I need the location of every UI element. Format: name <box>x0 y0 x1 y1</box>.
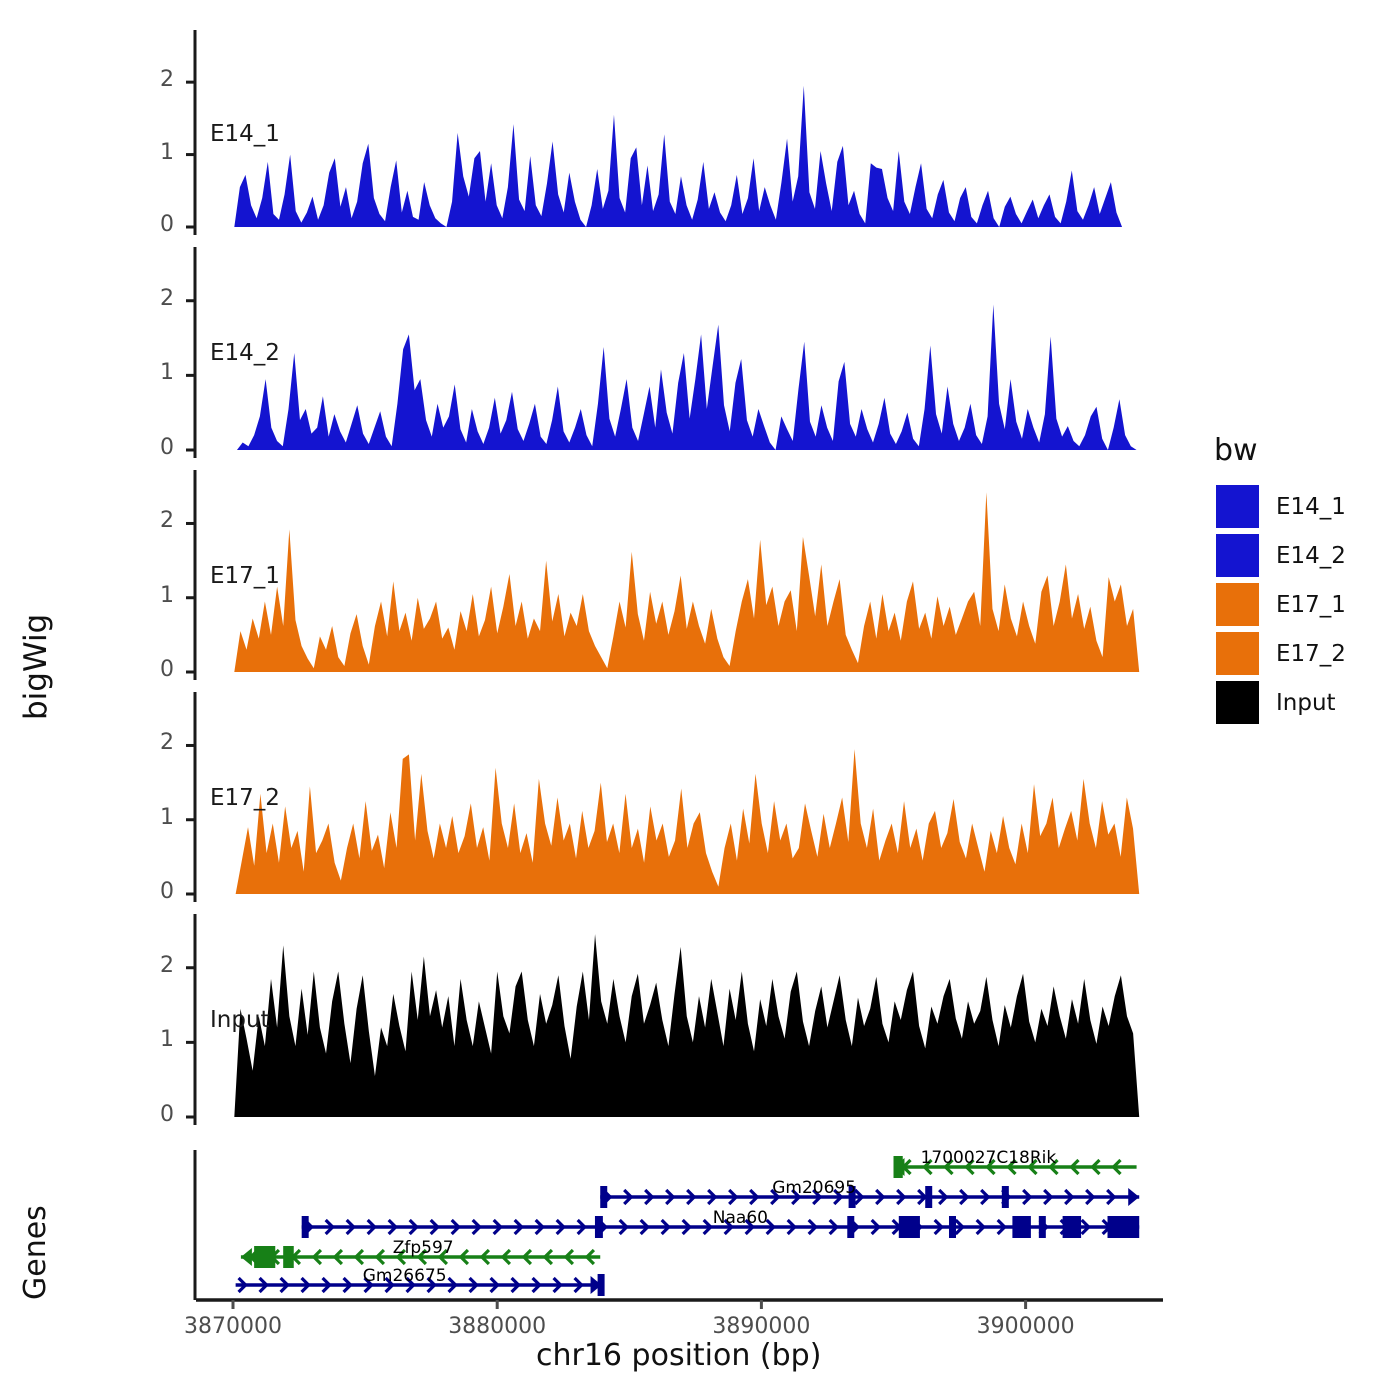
exon-block <box>925 1186 932 1208</box>
exon-block <box>1012 1216 1030 1238</box>
exon-block <box>1039 1216 1046 1238</box>
x-tick-label: 3870000 <box>184 1314 282 1339</box>
gene-label-Zfp597: Zfp597 <box>393 1238 454 1258</box>
gene-end-arrowhead-icon <box>241 1248 252 1266</box>
y-tick-label: 1 <box>144 140 174 165</box>
bigwig-track-e17_1 <box>234 492 1139 672</box>
y-tick-label: 0 <box>144 435 174 460</box>
exon-block <box>254 1246 275 1268</box>
exon-block <box>283 1246 294 1268</box>
gene-label-1700027C18Rik: 1700027C18Rik <box>921 1148 1057 1168</box>
bigwig-track-e14_1 <box>234 86 1122 227</box>
y-tick-label: 2 <box>144 953 174 978</box>
exon-block <box>598 1274 605 1296</box>
exon-block <box>1002 1186 1009 1208</box>
bigwig-track-e14_2 <box>237 304 1137 450</box>
y-tick-label: 1 <box>144 805 174 830</box>
x-tick-label: 3900000 <box>977 1314 1075 1339</box>
y-tick-label: 0 <box>144 212 174 237</box>
panel-label-e14_1: E14_1 <box>210 121 280 147</box>
exon-block <box>1108 1216 1140 1238</box>
y-tick-label: 2 <box>144 67 174 92</box>
gene-label-Gm26675: Gm26675 <box>363 1266 447 1286</box>
gene-label-Naa60: Naa60 <box>713 1208 768 1228</box>
gene-end-arrowhead-icon <box>1128 1188 1139 1206</box>
y-tick-label: 1 <box>144 1027 174 1052</box>
gene-label-Gm20695: Gm20695 <box>772 1178 856 1198</box>
y-tick-label: 0 <box>144 657 174 682</box>
exon-block <box>847 1216 854 1238</box>
panel-label-input: Input <box>210 1007 270 1033</box>
exon-block <box>595 1216 603 1238</box>
exon-block <box>302 1216 309 1238</box>
panel-label-e17_1: E17_1 <box>210 563 280 589</box>
y-tick-label: 1 <box>144 583 174 608</box>
panel-label-e17_2: E17_2 <box>210 785 280 811</box>
bigwig-track-e17_2 <box>236 749 1140 894</box>
exon-block <box>600 1186 607 1208</box>
y-tick-label: 2 <box>144 730 174 755</box>
y-tick-label: 2 <box>144 508 174 533</box>
exon-block <box>1063 1216 1081 1238</box>
x-tick-label: 3890000 <box>712 1314 810 1339</box>
exon-block <box>894 1156 903 1178</box>
x-tick-label: 3880000 <box>448 1314 546 1339</box>
y-tick-label: 1 <box>144 360 174 385</box>
bigwig-track-input <box>234 934 1139 1117</box>
y-tick-label: 2 <box>144 286 174 311</box>
gene-Gm20695[interactable] <box>600 1186 1139 1208</box>
exon-block <box>949 1216 956 1238</box>
exon-block <box>899 1216 920 1238</box>
genome-browser-plot <box>0 0 1400 1400</box>
y-tick-label: 0 <box>144 879 174 904</box>
y-tick-label: 0 <box>144 1102 174 1127</box>
panel-label-e14_2: E14_2 <box>210 340 280 366</box>
